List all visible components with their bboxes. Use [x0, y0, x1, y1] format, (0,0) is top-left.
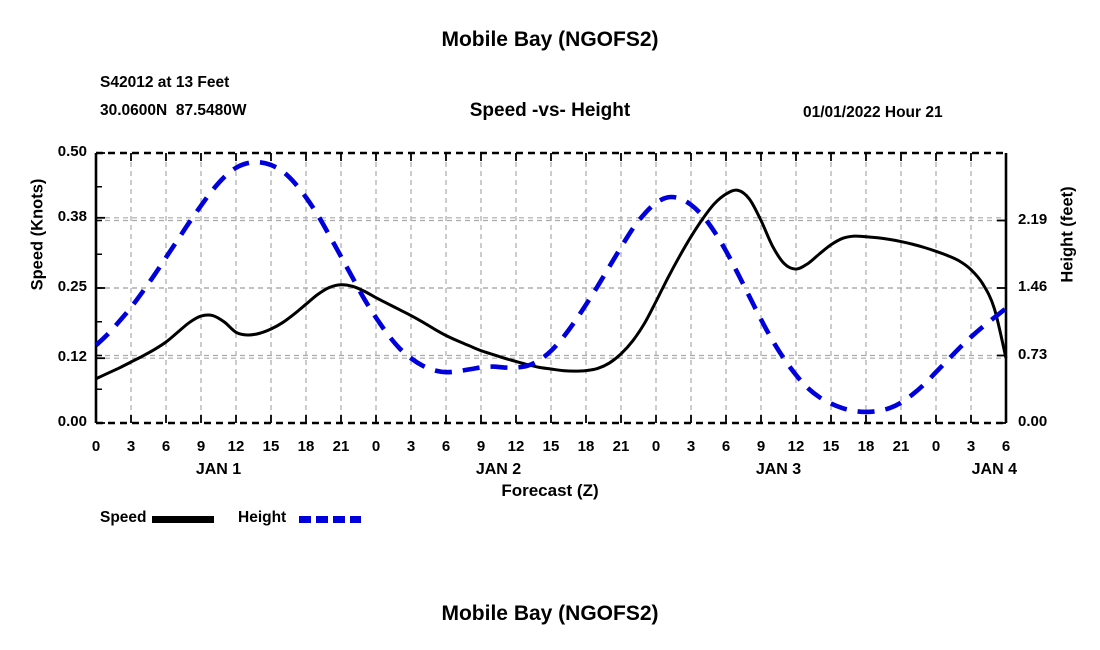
plot-canvas [0, 0, 1100, 650]
legend-item-speed[interactable]: Speed [100, 508, 216, 528]
chart-figure: Mobile Bay (NGOFS2) S42012 at 13 Feet 30… [0, 0, 1100, 650]
page-title-bottom: Mobile Bay (NGOFS2) [0, 602, 1100, 626]
legend-item-height[interactable]: Height [238, 508, 363, 528]
legend-swatch-solid [152, 516, 214, 523]
legend-label: Height [238, 509, 286, 527]
legend-label: Speed [100, 509, 147, 527]
legend-swatch-dashed [299, 516, 361, 523]
